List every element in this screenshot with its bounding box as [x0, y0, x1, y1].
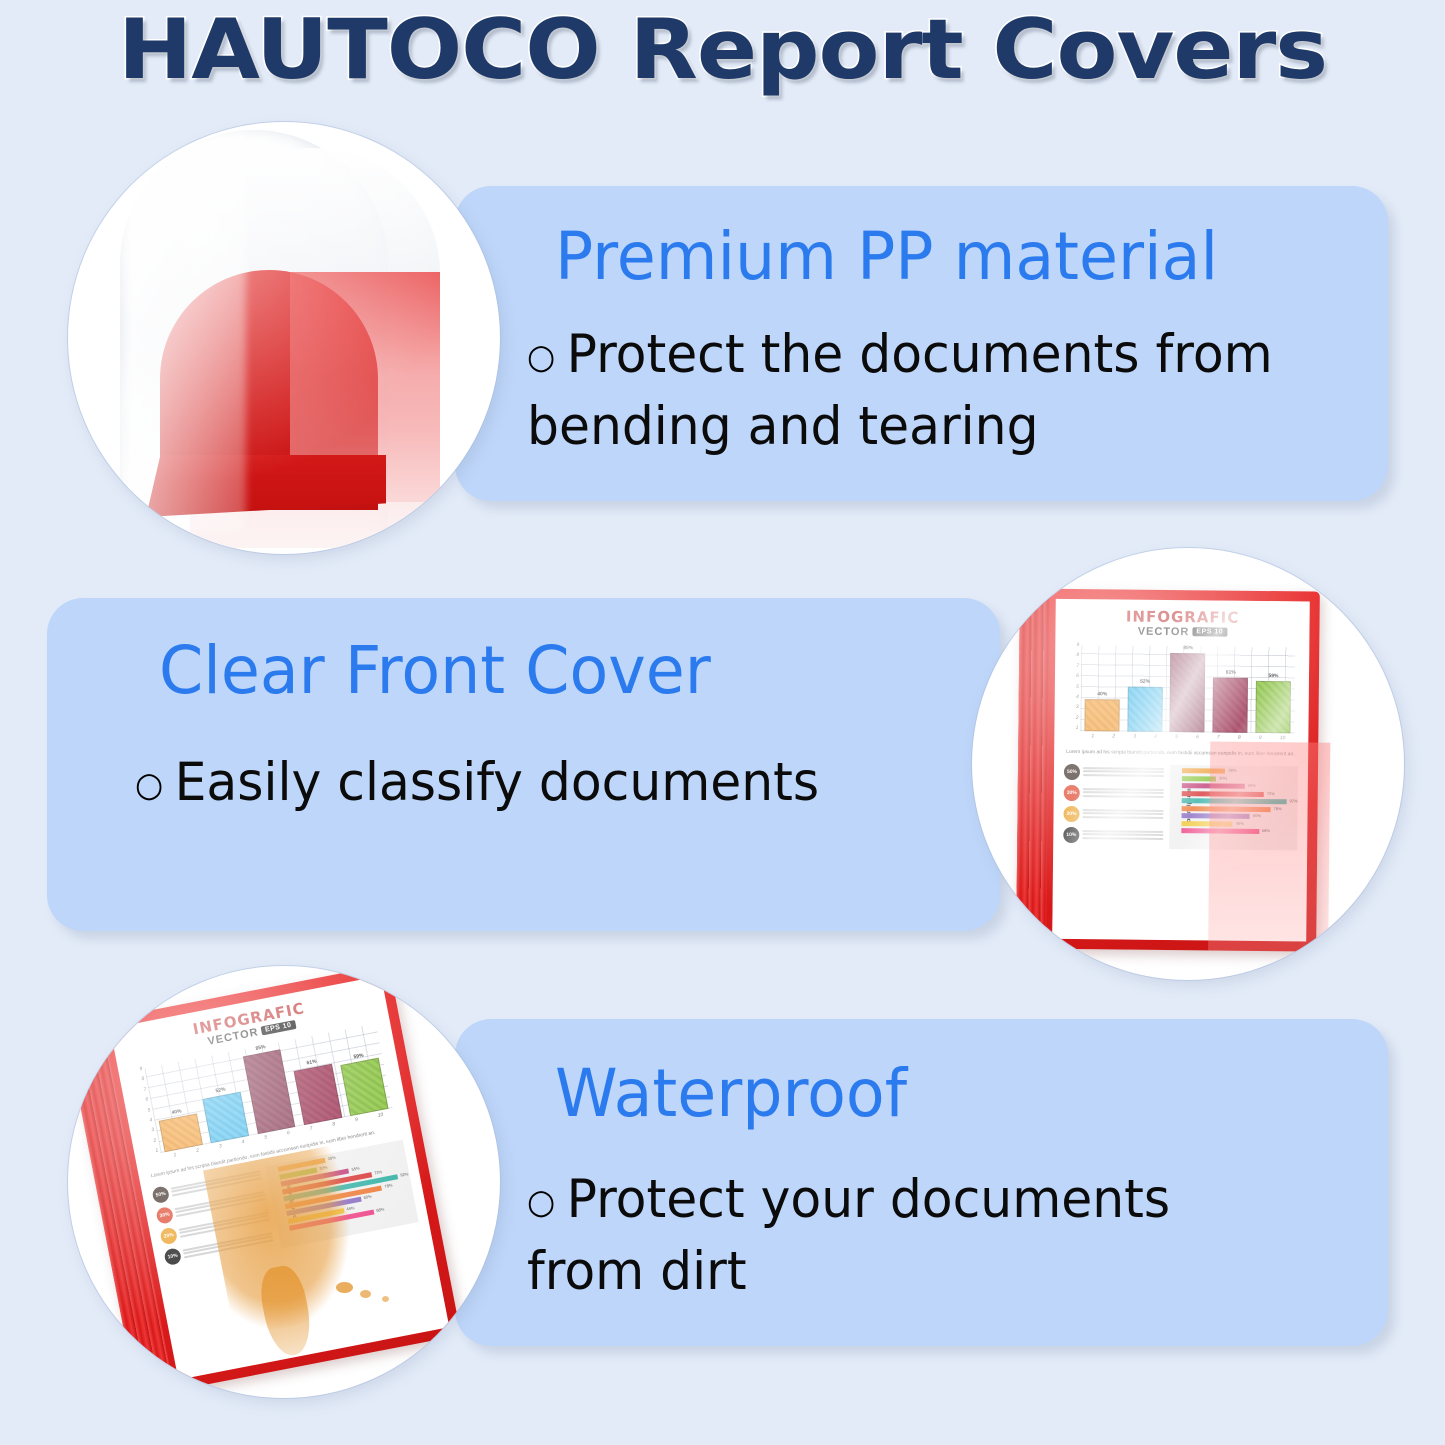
hbar: 38%: [1182, 768, 1225, 773]
hbar: 68%: [1181, 828, 1258, 834]
badge-caption-lines: [1083, 767, 1164, 778]
chart-bar: 59%: [1255, 681, 1291, 733]
feature-bullet-text-1: Protect the documents from bending and t…: [527, 324, 1273, 457]
chart-bar: 52%: [203, 1092, 250, 1143]
feature-heading-1: Premium PP material: [555, 222, 1218, 292]
percentage-badge-list: 50% 30% 20%: [151, 1167, 275, 1270]
gloss-highlight: [126, 132, 246, 532]
chart-bar: 52%: [1127, 687, 1162, 732]
cover-spine: [1016, 588, 1050, 948]
red-report-cover: INFOGRAFIC VECTOREPS 10 987654321 40% 52…: [68, 966, 461, 1398]
feature-panel-clear-front-cover: Clear Front Cover ○Easily classify docum…: [47, 598, 1000, 931]
bent-cover-illustration: [68, 122, 500, 554]
hbar: 72%: [1182, 791, 1264, 797]
horizontal-bar-chart: Lorem Ipsum 38% 30% 55% 72% 92% 78% 60% …: [1169, 765, 1298, 850]
list-item: 50%: [1064, 764, 1164, 781]
bullet-marker-icon: ○: [527, 337, 555, 377]
feature-panel-premium-pp-material: Premium PP material ○Protect the documen…: [455, 186, 1388, 501]
document-title: INFOGRAFIC: [1066, 608, 1300, 626]
chart-bar: 61%: [1213, 678, 1249, 733]
percent-badge: 20%: [159, 1227, 178, 1246]
document-page: INFOGRAFIC VECTOREPS 10 987654321 40% 52…: [1052, 599, 1310, 942]
chart-bar: 40%: [159, 1114, 203, 1153]
hbar: 60%: [1182, 813, 1250, 819]
chart-x-axis: 12345678910: [1082, 733, 1294, 745]
percent-badge: 20%: [1063, 806, 1079, 822]
feature-panel-waterproof: Waterproof ○Protect your documents from …: [455, 1019, 1388, 1346]
horizontal-bar-chart: Lorem Ipsum 38% 30% 55% 72% 92% 78% 60% …: [265, 1140, 419, 1249]
chart-bar: 85%: [243, 1049, 296, 1134]
percent-badge: 10%: [1063, 827, 1079, 843]
percent-badge: 50%: [1064, 764, 1080, 780]
feature-heading-2: Clear Front Cover: [159, 636, 711, 706]
percentage-badge-list: 50% 30% 20%: [1063, 764, 1164, 849]
document-subtitle: VECTOREPS 10: [1065, 625, 1299, 639]
feature-bullet-1: ○Protect the documents from bending and …: [527, 320, 1363, 462]
hbar: 45%: [1182, 821, 1233, 827]
hbar: 55%: [1182, 783, 1245, 789]
percent-badge: 50%: [151, 1185, 170, 1204]
eps-badge: EPS 10: [1192, 627, 1227, 636]
chart-bar: 61%: [294, 1064, 342, 1125]
list-item: 20%: [1063, 806, 1163, 823]
list-item: 10%: [1063, 827, 1163, 844]
feature-bullet-text-2: Easily classify documents: [175, 752, 820, 813]
percent-badge: 30%: [1064, 785, 1080, 801]
badge-caption-lines: [1082, 809, 1163, 820]
feature-bullet-2: ○Easily classify documents: [135, 748, 952, 820]
badge-caption-lines: [1083, 788, 1164, 799]
page-title: HAUTOCO Report Covers: [0, 2, 1445, 98]
feature-heading-3: Waterproof: [555, 1059, 907, 1129]
hbar: 78%: [1182, 806, 1271, 812]
product-image-front-cover: INFOGRAFIC VECTOREPS 10 987654321 40% 52…: [972, 548, 1404, 980]
vertical-bar-chart: 987654321 40% 52% 85% 61% 59% 1234567891…: [1066, 645, 1297, 745]
chart-bar: 40%: [1084, 699, 1119, 731]
badge-caption-lines: [1082, 830, 1163, 841]
list-item: 30%: [1064, 785, 1164, 802]
document-body-text: Lorem ipsum ad his scripta blandit parti…: [1066, 749, 1296, 758]
product-image-waterproof: INFOGRAFIC VECTOREPS 10 987654321 40% 52…: [68, 966, 500, 1398]
feature-bullet-text-3: Protect your documents from dirt: [527, 1169, 1170, 1302]
bullet-marker-icon: ○: [135, 765, 163, 805]
infographic-canvas: HAUTOCO Report Covers Premium PP materia…: [0, 0, 1445, 1445]
chart-bars: 40% 52% 85% 61% 59%: [1084, 647, 1291, 733]
chart-y-axis: 987654321: [1066, 642, 1079, 731]
percent-badge: 10%: [163, 1247, 182, 1266]
hbar: 92%: [1182, 798, 1287, 804]
document-page: INFOGRAFIC VECTOREPS 10 987654321 40% 52…: [110, 976, 449, 1380]
hbar: 30%: [1182, 776, 1216, 781]
percent-badge: 30%: [155, 1206, 174, 1225]
red-report-cover: INFOGRAFIC VECTOREPS 10 987654321 40% 52…: [1016, 588, 1320, 951]
product-image-bent-cover: [68, 122, 500, 554]
chart-bar: 85%: [1170, 653, 1206, 732]
feature-bullet-3: ○Protect your documents from dirt: [527, 1165, 1278, 1307]
bullet-marker-icon: ○: [527, 1182, 555, 1222]
